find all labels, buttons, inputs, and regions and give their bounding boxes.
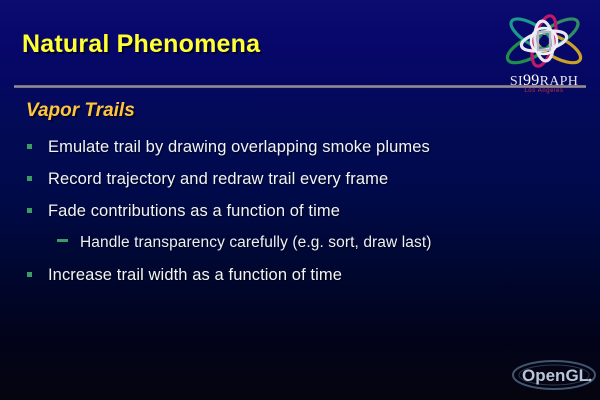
- square-bullet-icon: [22, 264, 48, 282]
- list-item-label: Increase trail width as a function of ti…: [48, 266, 342, 285]
- list-item: Emulate trail by drawing overlapping smo…: [22, 138, 562, 157]
- square-bullet-icon: [22, 200, 48, 218]
- siggraph-logo: SI99RAPH Los Angeles: [492, 8, 596, 104]
- siggraph-city-label: Los Angeles: [492, 88, 596, 94]
- svg-text:OpenGL: OpenGL: [522, 366, 589, 385]
- list-item-label: Record trajectory and redraw trail every…: [48, 170, 388, 189]
- list-item-label: Emulate trail by drawing overlapping smo…: [48, 138, 430, 157]
- opengl-logo-icon: OpenGL: [510, 356, 600, 394]
- bullet-list: Emulate trail by drawing overlapping smo…: [22, 138, 562, 298]
- siggraph-wordmark-year: 99: [523, 72, 540, 89]
- page-title: Natural Phenomena: [22, 30, 260, 59]
- sub-list-item-label: Handle transparency carefully (e.g. sort…: [80, 234, 432, 252]
- sub-list-item: Handle transparency carefully (e.g. sort…: [54, 234, 562, 252]
- list-item: Record trajectory and redraw trail every…: [22, 170, 562, 189]
- section-subtitle: Vapor Trails: [26, 100, 135, 122]
- dash-bullet-icon: [54, 231, 80, 249]
- square-bullet-icon: [22, 168, 48, 186]
- presentation-slide: Natural Phenomena SI99RAPH: [0, 0, 600, 400]
- siggraph-rings-icon: [500, 8, 588, 74]
- square-bullet-icon: [22, 136, 48, 154]
- list-item: Fade contributions as a function of time: [22, 202, 562, 221]
- siggraph-wordmark-prefix: SI: [510, 74, 523, 89]
- siggraph-wordmark-suffix: RAPH: [540, 74, 579, 89]
- list-item: Increase trail width as a function of ti…: [22, 266, 562, 285]
- list-item-label: Fade contributions as a function of time: [48, 202, 340, 221]
